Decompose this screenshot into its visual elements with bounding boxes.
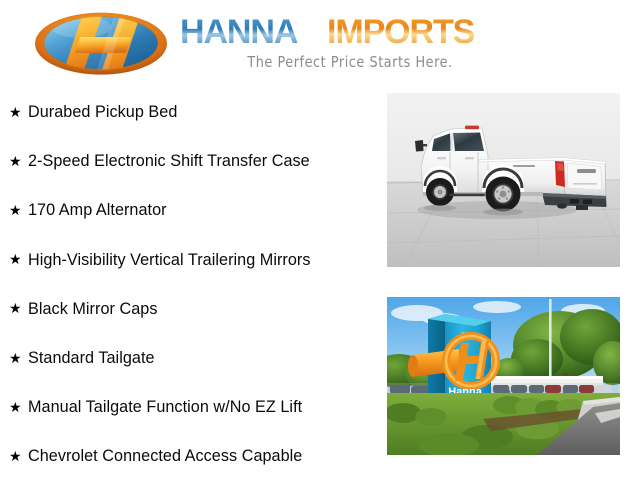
dealer-header: HANNA IMPORTS The Perfect Price Starts H… [0, 0, 640, 88]
star-bullet-icon: ★ [9, 203, 28, 217]
svg-text:HANNA: HANNA [180, 13, 298, 51]
list-item: ★ Chevrolet Connected Access Capable [0, 432, 375, 481]
star-bullet-icon: ★ [9, 252, 28, 266]
star-bullet-icon: ★ [9, 154, 28, 168]
list-item: ★ 2-Speed Electronic Shift Transfer Case [0, 137, 375, 186]
star-bullet-icon: ★ [9, 449, 28, 463]
list-item: ★ Standard Tailgate [0, 334, 375, 383]
list-item: ★ Black Mirror Caps [0, 285, 375, 334]
dealership-photo: 240 Hanna IMPORTS [387, 297, 620, 455]
list-item: ★ Manual Tailgate Function w/No EZ Lift [0, 383, 375, 432]
list-item: ★ Durabed Pickup Bed [0, 88, 375, 137]
hanna-oval-h-logo-icon [33, 11, 169, 75]
star-bullet-icon: ★ [9, 105, 28, 119]
feature-label: High-Visibility Vertical Trailering Mirr… [28, 251, 375, 270]
feature-label: 2-Speed Electronic Shift Transfer Case [28, 152, 375, 171]
feature-label: Durabed Pickup Bed [28, 103, 375, 122]
star-bullet-icon: ★ [9, 351, 28, 365]
feature-label: Manual Tailgate Function w/No EZ Lift [28, 398, 375, 417]
star-bullet-icon: ★ [9, 301, 28, 315]
feature-label: Chevrolet Connected Access Capable [28, 447, 375, 466]
vehicle-feature-list: ★ Durabed Pickup Bed ★ 2-Speed Electroni… [0, 88, 375, 480]
hanna-imports-wordmark: HANNA IMPORTS [180, 12, 520, 52]
list-item: ★ 170 Amp Alternator [0, 186, 375, 235]
dealer-tagline: The Perfect Price Starts Here. [194, 53, 507, 71]
svg-text:IMPORTS: IMPORTS [327, 13, 475, 51]
star-bullet-icon: ★ [9, 400, 28, 414]
feature-label: Standard Tailgate [28, 349, 375, 368]
vehicle-photo [387, 93, 620, 267]
list-item: ★ High-Visibility Vertical Trailering Mi… [0, 236, 375, 285]
feature-label: Black Mirror Caps [28, 300, 375, 319]
feature-label: 170 Amp Alternator [28, 201, 375, 220]
